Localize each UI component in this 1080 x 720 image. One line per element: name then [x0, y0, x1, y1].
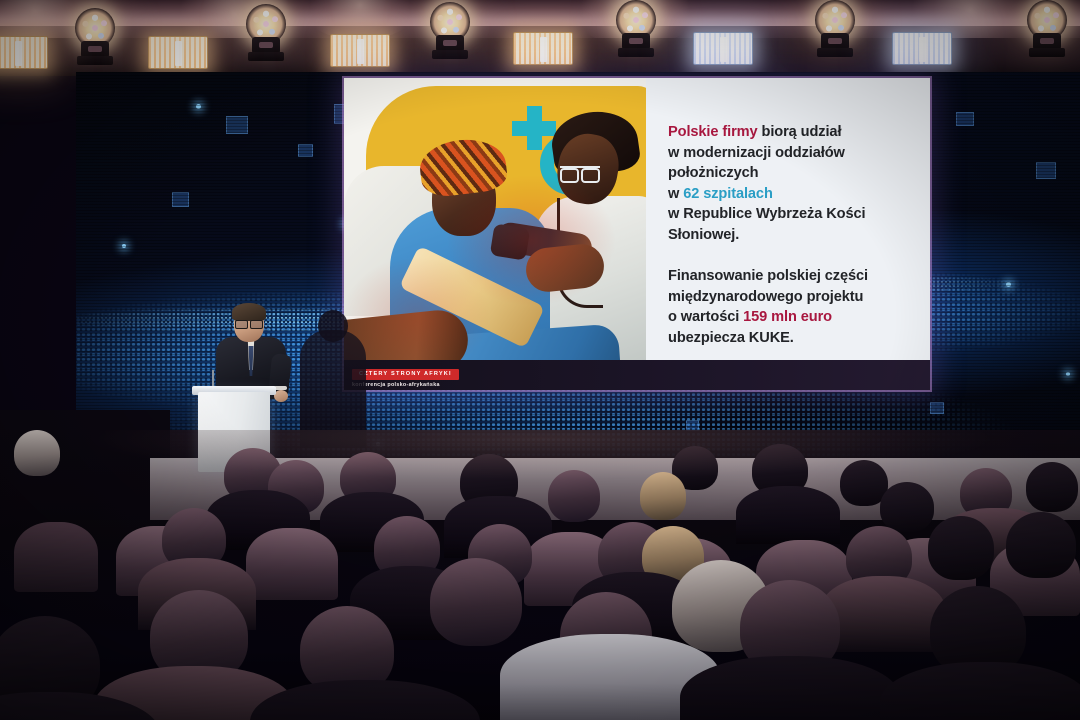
audience-head — [880, 482, 934, 532]
audience-shoulders — [736, 486, 840, 544]
pixel-glyph — [930, 402, 944, 414]
speaker-glasses-icon — [235, 320, 263, 327]
slide-paragraph-2: Finansowanie polskiej części międzynarod… — [668, 266, 908, 348]
led-glint — [122, 244, 126, 248]
slide-highlight-polskie-firmy: Polskie firmy — [668, 124, 758, 140]
slide-text-p2-line4: ubezpiecza KUKE. — [668, 330, 794, 346]
led-glint — [1066, 372, 1070, 376]
slide-text-line6: Słoniowej. — [668, 227, 739, 243]
stage-light-strip — [330, 34, 390, 67]
slide-text-p2-line2: międzynarodowego projektu — [668, 289, 863, 305]
stage-light-strip — [693, 32, 753, 65]
pixel-glyph — [298, 144, 313, 157]
slide-highlight-159-mln-euro: 159 mln euro — [743, 309, 832, 325]
pixel-glyph — [956, 112, 974, 126]
slide-text-line4-prefix: w — [668, 186, 683, 202]
stage-light-moving-head — [812, 0, 858, 58]
led-glint — [1006, 282, 1011, 287]
photo-bp-cuff — [490, 223, 531, 260]
slide-text-line3: położniczych — [668, 165, 758, 181]
audience-head — [14, 430, 60, 476]
conference-banner: Cztery strony Afryki konferencja polsko-… — [352, 362, 512, 388]
audience-head — [640, 472, 686, 520]
speaker-person — [216, 306, 286, 398]
stage-light-moving-head — [427, 2, 473, 60]
slide-text-p2-line3-prefix: o wartości — [668, 309, 743, 325]
slide-text-line5: w Republice Wybrzeża Kości — [668, 206, 865, 222]
photo-doctor-glasses-icon — [560, 166, 600, 178]
pixel-glyph — [226, 116, 248, 134]
stage-light-strip — [148, 36, 208, 69]
stage-light-strip — [513, 32, 573, 65]
conference-banner-pill: Cztery strony Afryki — [352, 369, 459, 380]
audience-head — [1026, 462, 1078, 512]
stage-light-moving-head — [72, 8, 118, 66]
slide-photo — [344, 78, 646, 390]
conference-hall-scene: Polskie firmy biorą udział w modernizacj… — [0, 0, 1080, 720]
audience-chair — [246, 528, 338, 600]
audience-chair — [14, 522, 98, 592]
presentation-slide: Polskie firmy biorą udział w modernizacj… — [344, 78, 930, 390]
slide-highlight-62-szpitalach: 62 szpitalach — [683, 186, 773, 202]
led-glint — [196, 104, 201, 109]
audience-head — [548, 470, 600, 522]
conference-banner-subtitle: konferencja polsko-afrykańska — [352, 382, 512, 388]
slide-paragraph-1: Polskie firmy biorą udział w modernizacj… — [668, 122, 908, 245]
audience-area — [0, 430, 1080, 720]
slide-text-seg: biorą udział — [758, 124, 842, 140]
stage-light-moving-head — [243, 4, 289, 62]
stage-light-strip — [0, 36, 48, 69]
audience-head — [430, 558, 522, 646]
slide-text-line2: w modernizacji oddziałów — [668, 145, 845, 161]
stage-light-moving-head — [1024, 0, 1070, 58]
stage-light-moving-head — [613, 0, 659, 58]
pixel-glyph — [172, 192, 189, 207]
slide-text-p2-line1: Finansowanie polskiej części — [668, 268, 868, 284]
audience-head — [1006, 512, 1076, 578]
stage-light-strip — [892, 32, 952, 65]
pixel-glyph — [1036, 162, 1056, 179]
speaker-hand — [274, 390, 288, 402]
slide-text-block: Polskie firmy biorą udział w modernizacj… — [646, 78, 930, 390]
audience-head — [928, 516, 994, 580]
speaker-hair — [232, 303, 266, 321]
